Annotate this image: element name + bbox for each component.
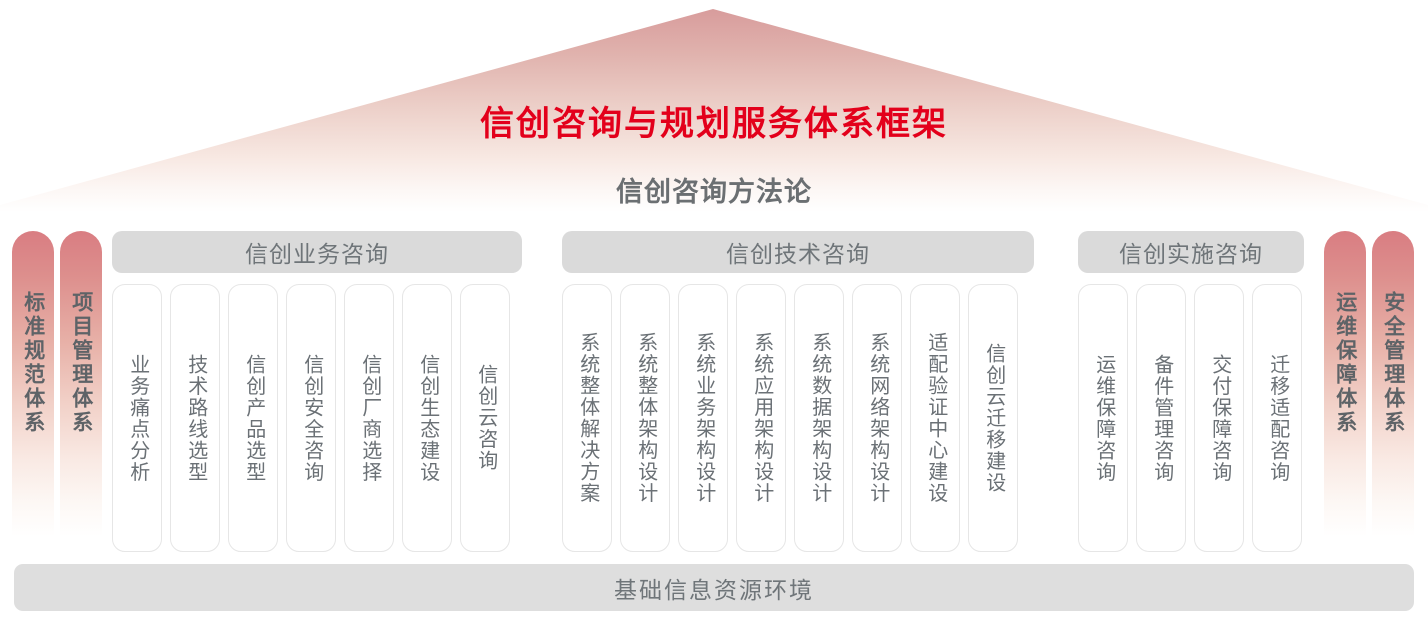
service-card-label: 运维保障咨询 <box>1092 354 1114 483</box>
pillar-project-management: 项目管理体系 <box>60 231 102 556</box>
service-card[interactable]: 业务痛点分析 <box>112 284 162 552</box>
service-card[interactable]: 系统应用架构设计 <box>736 284 786 552</box>
service-card-label: 信创生态建设 <box>416 354 438 483</box>
service-card-label: 适配验证中心建设 <box>924 332 946 504</box>
group-technical-consulting: 信创技术咨询 系统整体解决方案 系统整体架构设计 系统业务架构设计 系统应用架构… <box>562 231 1034 552</box>
pillar-label: 安全管理体系 <box>1381 291 1405 435</box>
service-card-label: 信创安全咨询 <box>300 354 322 483</box>
service-card[interactable]: 信创厂商选择 <box>344 284 394 552</box>
group-business-consulting: 信创业务咨询 业务痛点分析 技术路线选型 信创产品选型 信创安全咨询 信创厂商选… <box>112 231 522 552</box>
service-card[interactable]: 信创云迁移建设 <box>968 284 1018 552</box>
service-card-label: 系统数据架构设计 <box>808 332 830 504</box>
service-card[interactable]: 系统数据架构设计 <box>794 284 844 552</box>
service-card[interactable]: 系统业务架构设计 <box>678 284 728 552</box>
service-card[interactable]: 技术路线选型 <box>170 284 220 552</box>
group-header: 信创技术咨询 <box>562 231 1034 273</box>
group-card-list: 系统整体解决方案 系统整体架构设计 系统业务架构设计 系统应用架构设计 系统数据… <box>562 284 1034 552</box>
service-card-label: 业务痛点分析 <box>126 354 148 483</box>
group-card-list: 业务痛点分析 技术路线选型 信创产品选型 信创安全咨询 信创厂商选择 信创生态建… <box>112 284 522 552</box>
pillar-security-management: 安全管理体系 <box>1372 231 1414 556</box>
service-card-label: 信创厂商选择 <box>358 354 380 483</box>
service-card-label: 系统整体架构设计 <box>634 332 656 504</box>
diagram-canvas: 信创咨询与规划服务体系框架 信创咨询方法论 标准规范体系 项目管理体系 运维保障… <box>0 0 1428 627</box>
pillar-label: 项目管理体系 <box>69 291 93 435</box>
service-card[interactable]: 交付保障咨询 <box>1194 284 1244 552</box>
service-card-label: 备件管理咨询 <box>1150 354 1172 483</box>
group-implementation-consulting: 信创实施咨询 运维保障咨询 备件管理咨询 交付保障咨询 迁移适配咨询 <box>1078 231 1304 552</box>
page-subtitle: 信创咨询方法论 <box>0 170 1428 209</box>
service-card-label: 系统应用架构设计 <box>750 332 772 504</box>
foundation-bar: 基础信息资源环境 <box>14 564 1414 611</box>
service-card[interactable]: 备件管理咨询 <box>1136 284 1186 552</box>
group-header: 信创业务咨询 <box>112 231 522 273</box>
pillar-ops-guarantee: 运维保障体系 <box>1324 231 1366 556</box>
service-card[interactable]: 迁移适配咨询 <box>1252 284 1302 552</box>
service-card[interactable]: 信创产品选型 <box>228 284 278 552</box>
service-card[interactable]: 信创生态建设 <box>402 284 452 552</box>
group-header: 信创实施咨询 <box>1078 231 1304 273</box>
service-card[interactable]: 系统整体解决方案 <box>562 284 612 552</box>
service-card-label: 迁移适配咨询 <box>1266 354 1288 483</box>
service-card-label: 信创云咨询 <box>474 364 496 472</box>
service-card-label: 技术路线选型 <box>184 354 206 483</box>
pillar-label: 标准规范体系 <box>21 291 45 435</box>
group-card-list: 运维保障咨询 备件管理咨询 交付保障咨询 迁移适配咨询 <box>1078 284 1304 552</box>
service-card[interactable]: 信创云咨询 <box>460 284 510 552</box>
page-title: 信创咨询与规划服务体系框架 <box>0 96 1428 145</box>
service-card[interactable]: 系统整体架构设计 <box>620 284 670 552</box>
pillar-standard-spec: 标准规范体系 <box>12 231 54 556</box>
service-card-label: 系统网络架构设计 <box>866 332 888 504</box>
service-card[interactable]: 系统网络架构设计 <box>852 284 902 552</box>
service-card-label: 信创云迁移建设 <box>982 343 1004 494</box>
service-card-label: 交付保障咨询 <box>1208 354 1230 483</box>
service-card-label: 系统业务架构设计 <box>692 332 714 504</box>
pillar-label: 运维保障体系 <box>1333 291 1357 435</box>
service-card-label: 信创产品选型 <box>242 354 264 483</box>
service-card-label: 系统整体解决方案 <box>576 332 598 504</box>
service-card[interactable]: 运维保障咨询 <box>1078 284 1128 552</box>
service-card[interactable]: 适配验证中心建设 <box>910 284 960 552</box>
service-card[interactable]: 信创安全咨询 <box>286 284 336 552</box>
